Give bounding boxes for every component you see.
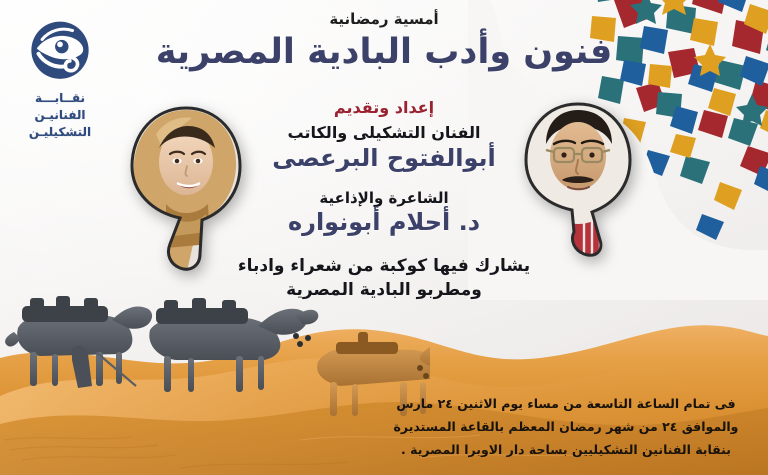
person1-name: أبوالفتوح البرعصى	[0, 144, 768, 173]
participants-line-1: يشارك فيها كوكبة من شعراء وادباء	[0, 254, 768, 279]
detail-line-2: والموافق ٢٤ من شهر رمضان المعظم بالقاعة …	[390, 415, 742, 438]
detail-line-3: بنقابة الفنانين التشكيليين بساحة دار الا…	[390, 438, 742, 461]
person1-role: الفنان التشكيلى والكاتب	[0, 123, 768, 143]
presented-by-label: إعداد وتقديم	[0, 98, 768, 117]
event-poster: نقــابـــة الفنانيـن التشكيليـن أمسية رم…	[0, 0, 768, 475]
person2-name: د. أحلام أبونواره	[0, 208, 768, 236]
portrait-man	[520, 100, 636, 260]
participants-note: يشارك فيها كوكبة من شعراء وادباء ومطربو …	[0, 254, 768, 303]
portrait-woman	[126, 104, 246, 276]
participants-line-2: ومطربو البادية المصرية	[0, 278, 768, 303]
person2-block: الشاعرة والإذاعية د. أحلام أبونواره	[0, 189, 768, 236]
detail-line-1: فى تمام الساعة التاسعة من مساء يوم الاثن…	[390, 392, 742, 415]
credits-block: إعداد وتقديم الفنان التشكيلى والكاتب أبو…	[0, 98, 768, 303]
poster-kicker: أمسية رمضانية	[0, 10, 768, 28]
person2-role: الشاعرة والإذاعية	[0, 189, 768, 207]
poster-title: فنون وأدب البادية المصرية	[0, 32, 768, 72]
event-details: فى تمام الساعة التاسعة من مساء يوم الاثن…	[390, 392, 742, 461]
